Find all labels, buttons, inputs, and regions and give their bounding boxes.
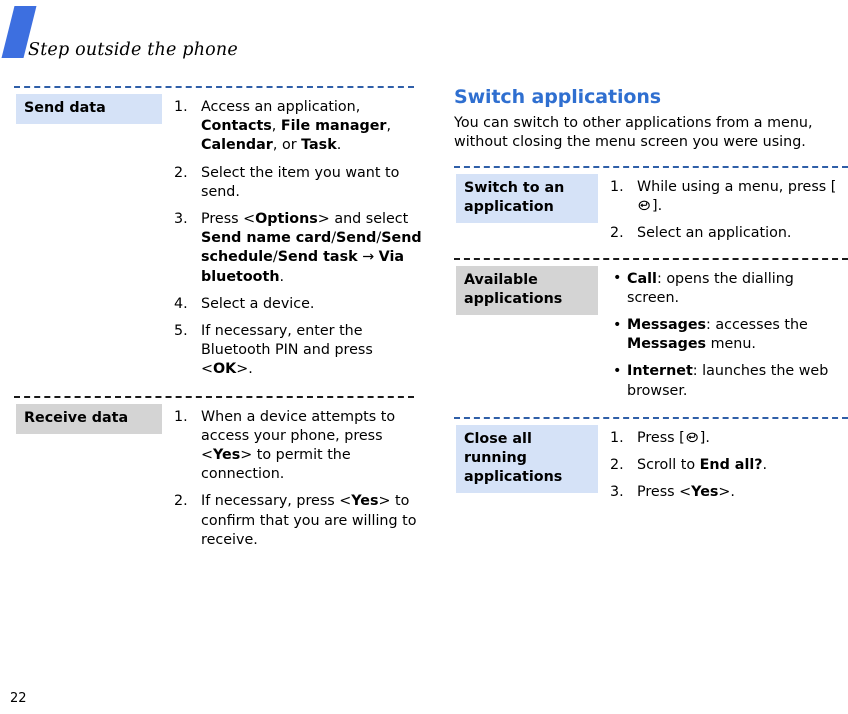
- entry-label-receive-data: Receive data: [16, 404, 162, 434]
- step-text-bold: Yes: [213, 447, 240, 463]
- bullet-text-bold: Messages: [627, 317, 706, 333]
- step-text-arrow: →: [358, 249, 379, 265]
- step-text-bold: End all?: [700, 457, 763, 473]
- step-number: 4.: [174, 295, 195, 314]
- switch-key-icon: [638, 199, 651, 211]
- list-item: 3. Press <Yes>.: [610, 483, 848, 502]
- step-text-part: ].: [652, 198, 662, 214]
- list-item: • Messages: accesses the Messages menu.: [610, 316, 848, 354]
- bullet-text: Internet: launches the web browser.: [627, 363, 828, 398]
- entry-label-switch-to-an-application: Switch to an application: [456, 174, 598, 223]
- bullet-text: Messages: accesses the Messages menu.: [627, 317, 808, 352]
- entry-body-close-all-running-applications: 1. Press []. 2. Scroll to End all?. 3. P…: [598, 425, 848, 503]
- list-item: 2. If necessary, press <Yes> to confirm …: [174, 492, 426, 550]
- page-title: Step outside the phone: [28, 40, 238, 60]
- section-heading-switch-applications: Switch applications: [454, 86, 848, 108]
- step-text-part: Press <: [637, 484, 691, 500]
- step-text: Access an application, Contacts, File ma…: [201, 99, 391, 153]
- left-column: Send data 1. Access an application, Cont…: [14, 86, 426, 550]
- step-text-bold: Send task: [278, 249, 358, 265]
- list-item: 2. Scroll to End all?.: [610, 456, 848, 475]
- step-number: 1.: [174, 98, 195, 117]
- entry-receive-data: Receive data 1. When a device attempts t…: [14, 404, 426, 550]
- step-text: Scroll to End all?.: [637, 457, 767, 473]
- section-intro-text: You can switch to other applications fro…: [454, 114, 848, 152]
- step-text-part: >.: [718, 484, 735, 500]
- step-text-bold: Contacts: [201, 118, 272, 134]
- bullet-text-bold: Call: [627, 271, 657, 287]
- step-text: Press <Yes>.: [637, 484, 735, 500]
- step-text-part: If necessary, press <: [201, 493, 351, 509]
- step-number: 2.: [610, 456, 631, 475]
- bullet-text-part: menu.: [706, 336, 756, 352]
- step-text: Select an application.: [637, 225, 791, 241]
- step-text-bold: Send name card: [201, 230, 331, 246]
- list-item: • Call: opens the dialling screen.: [610, 270, 848, 308]
- step-text-part: Press <: [201, 211, 255, 227]
- switch-key-icon: [686, 431, 699, 443]
- step-text: If necessary, press <Yes> to confirm tha…: [201, 493, 416, 547]
- list-item: 5. If necessary, enter the Bluetooth PIN…: [174, 322, 426, 380]
- step-text-part: .: [280, 269, 285, 285]
- bullet-list-available-applications: • Call: opens the dialling screen. • Mes…: [610, 270, 848, 401]
- list-item: 1. When a device attempts to access your…: [174, 408, 426, 485]
- step-text-part: .: [337, 137, 342, 153]
- step-text-part: , or: [273, 137, 301, 153]
- list-item: • Internet: launches the web browser.: [610, 362, 848, 400]
- step-text: Select a device.: [201, 296, 314, 312]
- step-text-part: .: [763, 457, 768, 473]
- step-text-bold: Send: [336, 230, 376, 246]
- section-divider-switch-to-an-application: [454, 166, 848, 168]
- list-item: 4. Select a device.: [174, 295, 426, 314]
- step-number: 1.: [174, 408, 195, 427]
- step-text-bold: Task: [301, 137, 337, 153]
- step-list-receive-data: 1. When a device attempts to access your…: [174, 408, 426, 550]
- step-text-bold: OK: [213, 361, 236, 377]
- entry-send-data: Send data 1. Access an application, Cont…: [14, 94, 426, 380]
- step-list-switch-to-an-application: 1. While using a menu, press []. 2. Sele…: [610, 178, 848, 244]
- step-text: When a device attempts to access your ph…: [201, 409, 395, 483]
- step-text-bold: File manager: [281, 118, 387, 134]
- list-item: 2. Select an application.: [610, 224, 848, 243]
- entry-label-send-data: Send data: [16, 94, 162, 124]
- entry-switch-to-an-application: Switch to an application 1. While using …: [454, 174, 848, 244]
- step-text: If necessary, enter the Bluetooth PIN an…: [201, 323, 373, 377]
- list-item: 1. Access an application, Contacts, File…: [174, 98, 426, 156]
- step-text-part: ].: [700, 430, 710, 446]
- step-list-send-data: 1. Access an application, Contacts, File…: [174, 98, 426, 380]
- list-item: 3. Press <Options> and select Send name …: [174, 210, 426, 287]
- section-divider-close-all-running-applications: [454, 417, 848, 419]
- entry-body-available-applications: • Call: opens the dialling screen. • Mes…: [598, 266, 848, 401]
- step-text-bold: Calendar: [201, 137, 273, 153]
- step-number: 2.: [174, 492, 195, 511]
- entry-label-close-all-running-applications: Close all running applications: [456, 425, 598, 493]
- page-number: 22: [10, 691, 27, 706]
- bullet-icon: •: [613, 362, 621, 381]
- entry-body-switch-to-an-application: 1. While using a menu, press []. 2. Sele…: [598, 174, 848, 244]
- step-text-part: While using a menu, press [: [637, 179, 836, 195]
- step-text-bold: Options: [255, 211, 318, 227]
- step-text-bold: Yes: [351, 493, 378, 509]
- step-text: Press <Options> and select Send name car…: [201, 211, 422, 285]
- step-text: While using a menu, press [].: [637, 179, 836, 214]
- list-item: 2. Select the item you want to send.: [174, 164, 426, 202]
- entry-body-receive-data: 1. When a device attempts to access your…: [162, 404, 426, 550]
- entry-label-available-applications: Available applications: [456, 266, 598, 315]
- step-number: 2.: [610, 224, 631, 243]
- entry-available-applications: Available applications • Call: opens the…: [454, 266, 848, 401]
- step-text-part: ,: [386, 118, 391, 134]
- entry-close-all-running-applications: Close all running applications 1. Press …: [454, 425, 848, 503]
- step-number: 1.: [610, 178, 631, 197]
- section-divider-send-data: [14, 86, 414, 88]
- step-text-part: Scroll to: [637, 457, 700, 473]
- step-text: Select the item you want to send.: [201, 165, 399, 200]
- bullet-text-bold: Messages: [627, 336, 706, 352]
- page-running-header: Step outside the phone: [0, 0, 848, 70]
- section-divider-receive-data: [14, 396, 414, 398]
- step-text: Press [].: [637, 430, 710, 446]
- bullet-icon: •: [613, 316, 621, 335]
- step-number: 3.: [610, 483, 631, 502]
- bullet-text-bold: Internet: [627, 363, 693, 379]
- bullet-text-part: : accesses the: [706, 317, 808, 333]
- step-text-part: >.: [236, 361, 253, 377]
- step-text-part: Press [: [637, 430, 685, 446]
- step-number: 3.: [174, 210, 195, 229]
- list-item: 1. While using a menu, press [].: [610, 178, 848, 216]
- section-divider-available-applications: [454, 258, 848, 260]
- step-number: 5.: [174, 322, 195, 341]
- bullet-icon: •: [613, 269, 621, 288]
- list-item: 1. Press [].: [610, 429, 848, 448]
- step-text-part: ,: [272, 118, 281, 134]
- step-number: 2.: [174, 164, 195, 183]
- step-list-close-all-running-applications: 1. Press []. 2. Scroll to End all?. 3. P…: [610, 429, 848, 503]
- bullet-text: Call: opens the dialling screen.: [627, 271, 794, 306]
- right-column: Switch applications You can switch to ot…: [454, 86, 848, 502]
- entry-body-send-data: 1. Access an application, Contacts, File…: [162, 94, 426, 380]
- step-text-bold: Yes: [691, 484, 718, 500]
- step-text-part: Access an application,: [201, 99, 360, 115]
- step-number: 1.: [610, 429, 631, 448]
- step-text-part: > and select: [318, 211, 408, 227]
